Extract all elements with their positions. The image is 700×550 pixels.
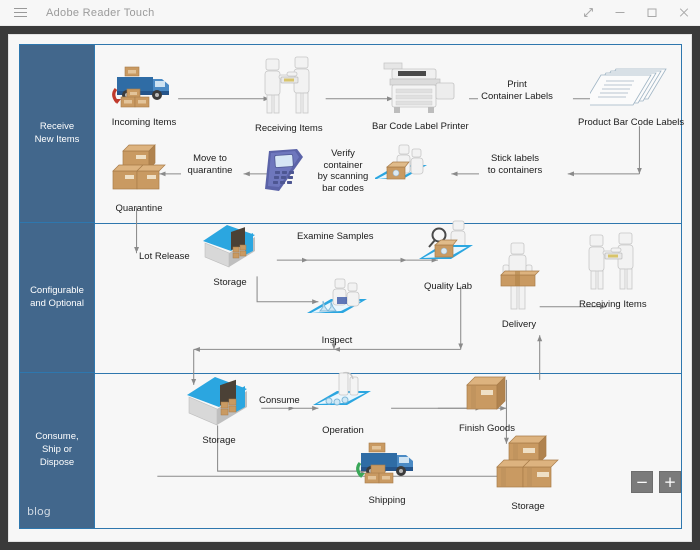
delivery-truck-icon	[351, 437, 423, 494]
node-label: Storage	[511, 501, 544, 512]
node-storage-final[interactable]: Storage	[491, 433, 565, 512]
node-label: Receiving Items	[255, 123, 323, 134]
node-label: Incoming Items	[112, 117, 176, 128]
edge-lot-release: Lot Release	[137, 251, 192, 263]
two-workers-icon	[257, 55, 321, 122]
blog-watermark: blog	[27, 505, 51, 520]
lab-inspection-icon	[301, 275, 373, 334]
edge-consume: Consume	[257, 395, 302, 407]
minimize-icon[interactable]	[604, 0, 636, 26]
node-quality-lab[interactable]: Quality Lab	[413, 219, 483, 292]
node-label: Receiving Items	[579, 299, 647, 310]
single-box-icon	[459, 373, 515, 422]
maximize-icon[interactable]	[636, 0, 668, 26]
node-label: Quarantine	[115, 203, 162, 214]
node-receiving-items-1[interactable]: Receiving Items	[255, 55, 323, 134]
process-equipment-icon	[307, 371, 379, 424]
node-label: Inspect	[322, 335, 353, 346]
diagonal-arrow-icon[interactable]	[572, 0, 604, 26]
node-barcode-scanner[interactable]	[255, 147, 311, 200]
node-storage-lot[interactable]: Storage	[199, 223, 261, 288]
edge-examine-samples: Examine Samples	[295, 231, 376, 243]
lane-receive-new-items: Receive New Items	[20, 45, 94, 223]
stacked-boxes-icon	[491, 433, 565, 500]
node-label: Storage	[213, 277, 246, 288]
pdf-viewer-frame: Receive New Items Configurable and Optio…	[0, 26, 700, 550]
node-inspect[interactable]: Inspect	[301, 275, 373, 346]
zoom-out-button[interactable]: −	[631, 471, 653, 493]
node-finish-goods[interactable]: Finish Goods	[459, 373, 515, 434]
node-receiving-items-2[interactable]: Receiving Items	[579, 231, 647, 310]
node-operation[interactable]: Operation	[307, 371, 379, 436]
node-product-bar-code-labels[interactable]: Product Bar Code Labels	[578, 65, 684, 128]
edge-stick-labels-to-containers: Stick labels to containers	[479, 153, 551, 176]
edge-print-container-labels: Print Container Labels	[478, 79, 556, 102]
close-icon[interactable]	[668, 0, 700, 26]
lane-divider-2	[95, 373, 681, 374]
application-window: Adobe Reader Touch Receive New It	[0, 0, 700, 550]
magnifier-worker-icon	[413, 219, 483, 280]
node-label: Storage	[202, 435, 235, 446]
hamburger-icon[interactable]	[0, 0, 40, 26]
node-label: Shipping	[369, 495, 406, 506]
node-label: Operation	[322, 425, 364, 436]
stacked-boxes-icon	[109, 143, 169, 202]
warehouse-icon	[183, 375, 255, 434]
title-bar: Adobe Reader Touch	[0, 0, 700, 26]
node-storage-consume[interactable]: Storage	[183, 375, 255, 446]
node-label: Bar Code Label Printer	[372, 121, 469, 132]
lane-label: Consume, Ship or Dispose	[35, 431, 78, 469]
node-label: Quality Lab	[424, 281, 472, 292]
lane-label: Receive New Items	[35, 121, 80, 147]
window-title: Adobe Reader Touch	[40, 7, 155, 19]
label-sheets-icon	[590, 65, 672, 116]
two-workers-icon	[581, 231, 645, 298]
zoom-in-button[interactable]: +	[659, 471, 681, 493]
edge-verify-container: Verify container by scanning bar codes	[311, 148, 375, 194]
handheld-scanner-icon	[255, 147, 311, 200]
pdf-page[interactable]: Receive New Items Configurable and Optio…	[8, 34, 692, 542]
node-quarantine[interactable]: Quarantine	[109, 143, 169, 214]
node-shipping[interactable]: Shipping	[351, 437, 423, 506]
worker-carrying-box-icon	[491, 241, 547, 318]
node-delivery[interactable]: Delivery	[491, 241, 547, 330]
warehouse-icon	[199, 223, 261, 276]
node-label: Product Bar Code Labels	[578, 117, 684, 128]
lane-divider-1	[95, 223, 681, 224]
printer-icon	[378, 57, 462, 120]
lane-consume-ship-or-dispose: Consume, Ship or Dispose blog	[20, 373, 94, 528]
delivery-truck-icon	[109, 59, 179, 116]
swimlane-header-column: Receive New Items Configurable and Optio…	[20, 45, 95, 528]
window-controls	[572, 0, 700, 26]
zoom-controls: − +	[631, 471, 681, 493]
process-flow-diagram: Receive New Items Configurable and Optio…	[19, 44, 682, 529]
node-bar-code-label-printer[interactable]: Bar Code Label Printer	[372, 57, 469, 132]
diagram-canvas: Incoming Items	[95, 45, 681, 528]
lane-configurable-and-optional: Configurable and Optional	[20, 223, 94, 373]
node-incoming-items[interactable]: Incoming Items	[109, 59, 179, 128]
node-label: Delivery	[502, 319, 536, 330]
lane-label: Configurable and Optional	[30, 285, 84, 311]
edge-move-to-quarantine: Move to quarantine	[181, 153, 239, 176]
